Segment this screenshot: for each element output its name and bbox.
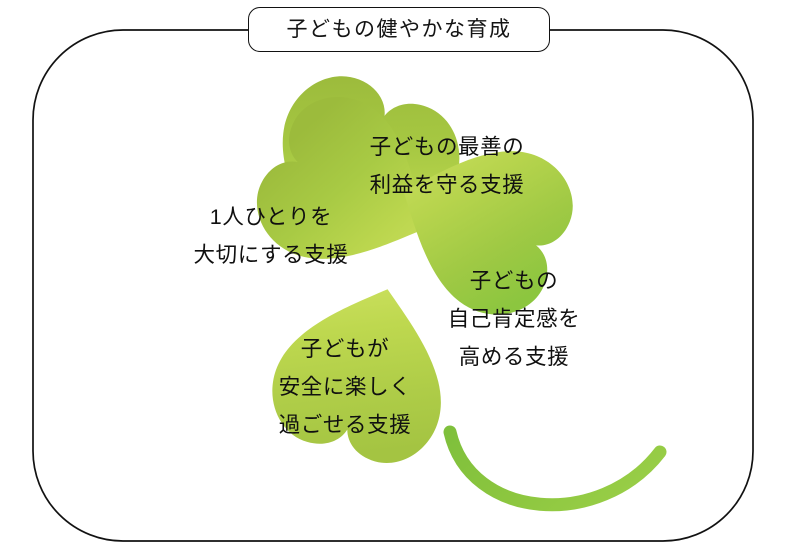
clover-graphic: 子どもの最善の 利益を守る支援 1人ひとりを 大切にする支援 子どもの 自己肯定… xyxy=(0,0,795,554)
clover-svg xyxy=(0,0,795,554)
clover-stem xyxy=(450,432,660,505)
petal-bottom xyxy=(259,266,469,475)
diagram-canvas: 子どもの健やかな育成 xyxy=(0,0,795,554)
